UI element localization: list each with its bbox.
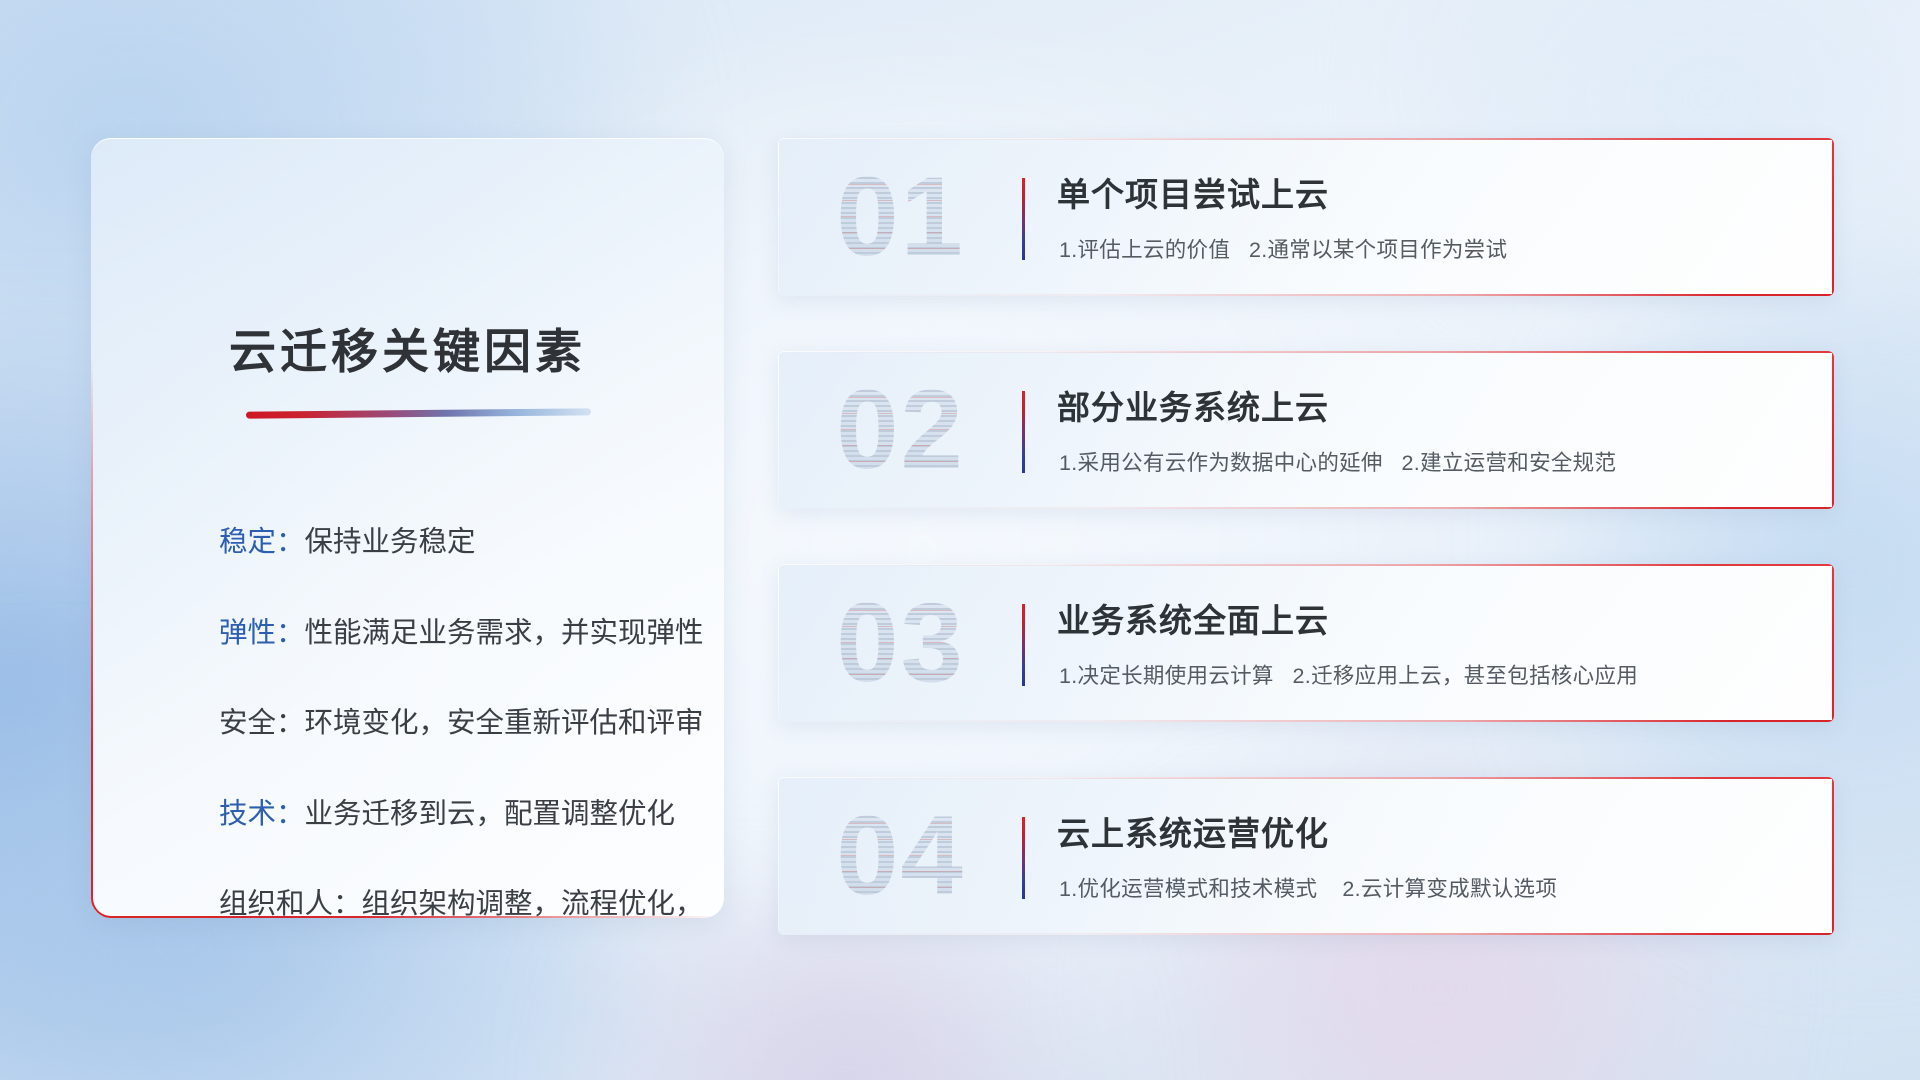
card-bottom-red-edge: [778, 507, 1834, 509]
panel-left-red-edge: [91, 356, 93, 918]
page-title: 云迁移关键因素: [91, 313, 724, 382]
card-bottom-red-edge: [778, 933, 1834, 935]
panel-corner-red-edge: [91, 894, 115, 918]
factor-value: 业务迁移到云，配置调整优化: [305, 798, 676, 830]
card-number-watermark-tint: 03: [803, 578, 998, 708]
card-title: 单个项目尝试上云: [1057, 168, 1329, 216]
card-number-watermark-tint: 04: [803, 791, 998, 921]
card-title: 业务系统全面上云: [1057, 594, 1329, 642]
factor-row: 稳定：保持业务稳定: [219, 528, 688, 557]
factor-row: 组织和人：组织架构调整，流程优化，: [219, 890, 688, 918]
card-left-highlight-edge: [778, 777, 779, 935]
factor-value: 保持业务稳定: [305, 526, 476, 558]
card-top-red-edge: [778, 777, 1834, 779]
stage-card[interactable]: 04 04 云上系统运营优化 1.优化运营模式和技术模式 2.云计算变成默认选项: [778, 777, 1834, 935]
card-left-highlight-edge: [778, 564, 779, 722]
card-top-red-edge: [778, 351, 1834, 353]
card-accent-bar: [1022, 817, 1025, 899]
card-right-red-edge: [1832, 138, 1834, 296]
card-top-red-edge: [778, 564, 1834, 566]
factor-row: 弹性：性能满足业务需求，并实现弹性: [219, 619, 688, 648]
factor-key: 安全：: [219, 707, 305, 739]
card-description: 1.采用公有云作为数据中心的延伸 2.建立运营和安全规范: [1059, 446, 1616, 477]
stage-card[interactable]: 02 02 部分业务系统上云 1.采用公有云作为数据中心的延伸 2.建立运营和安…: [778, 351, 1834, 509]
card-right-red-edge: [1832, 777, 1834, 935]
factor-value: 环境变化，安全重新评估和评审: [305, 707, 704, 739]
factor-value: 性能满足业务需求，并实现弹性: [305, 617, 704, 649]
factor-list: 稳定：保持业务稳定 弹性：性能满足业务需求，并实现弹性 安全：环境变化，安全重新…: [219, 528, 688, 918]
title-underline-gradient: [246, 408, 591, 418]
stage-card[interactable]: 01 01 单个项目尝试上云 1.评估上云的价值 2.通常以某个项目作为尝试: [778, 138, 1834, 296]
stage-card[interactable]: 03 03 业务系统全面上云 1.决定长期使用云计算 2.迁移应用上云，甚至包括…: [778, 564, 1834, 722]
factor-row: 安全：环境变化，安全重新评估和评审: [219, 709, 688, 738]
card-right-red-edge: [1832, 564, 1834, 722]
card-accent-bar: [1022, 178, 1025, 260]
factor-key: 稳定：: [219, 526, 305, 558]
factor-key: 弹性：: [219, 617, 305, 649]
card-accent-bar: [1022, 604, 1025, 686]
card-bottom-red-edge: [778, 720, 1834, 722]
card-number-watermark-tint: 01: [803, 152, 998, 282]
card-left-highlight-edge: [778, 138, 779, 296]
card-bottom-red-edge: [778, 294, 1834, 296]
factor-row: 技术：业务迁移到云，配置调整优化: [219, 800, 688, 829]
factor-key: 技术：: [219, 798, 305, 830]
card-accent-bar: [1022, 391, 1025, 473]
card-description: 1.决定长期使用云计算 2.迁移应用上云，甚至包括核心应用: [1059, 659, 1638, 690]
stage-card-list: 01 01 单个项目尝试上云 1.评估上云的价值 2.通常以某个项目作为尝试 0…: [778, 138, 1834, 935]
card-title: 部分业务系统上云: [1057, 381, 1329, 429]
card-description: 1.评估上云的价值 2.通常以某个项目作为尝试: [1059, 233, 1507, 264]
key-factors-panel: 云迁移关键因素 稳定：保持业务稳定 弹性：性能满足业务需求，并实现弹性 安全：环…: [91, 138, 724, 918]
card-number-watermark-tint: 02: [803, 365, 998, 495]
card-left-highlight-edge: [778, 351, 779, 509]
card-right-red-edge: [1832, 351, 1834, 509]
card-top-red-edge: [778, 138, 1834, 140]
card-title: 云上系统运营优化: [1057, 807, 1329, 855]
factor-key: 组织和人：: [219, 888, 362, 918]
card-description: 1.优化运营模式和技术模式 2.云计算变成默认选项: [1059, 872, 1557, 903]
factor-value: 组织架构调整，流程优化，: [362, 888, 704, 918]
slide-content: 云迁移关键因素 稳定：保持业务稳定 弹性：性能满足业务需求，并实现弹性 安全：环…: [0, 0, 1920, 1080]
